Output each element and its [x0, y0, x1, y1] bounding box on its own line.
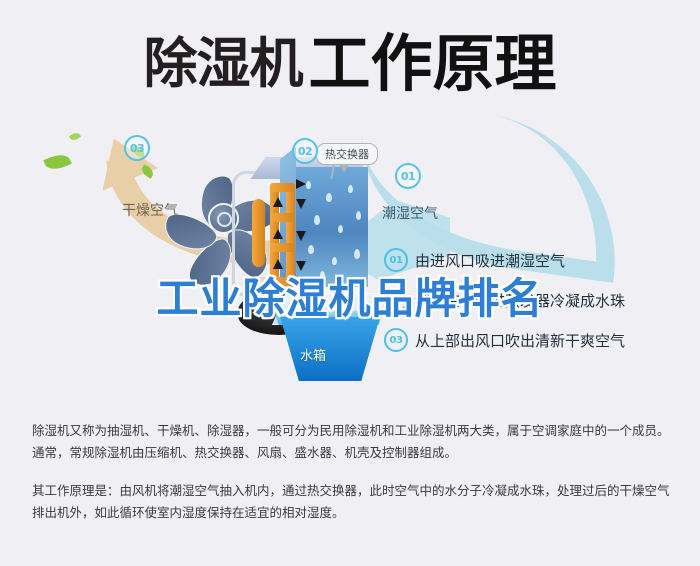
leaf-icon	[69, 131, 81, 142]
page-title-part1: 除湿机	[143, 37, 302, 91]
step-badge: 02	[384, 288, 408, 312]
step-badge: 01	[384, 248, 408, 272]
diagram-badge-03: 03	[124, 135, 150, 161]
body-paragraph-1: 除湿机又称为抽湿机、干燥机、除湿器，一般可分为民用除湿机和工业除湿机两大类，属于…	[32, 420, 672, 464]
water-droplet	[320, 271, 325, 279]
coil-tube	[270, 213, 295, 222]
coil-tube	[270, 277, 295, 286]
flow-arrow-up	[273, 259, 283, 269]
step-text: 从上部出风口吹出清新干爽空气	[415, 330, 625, 351]
flow-arrow-down	[296, 199, 306, 209]
water-tank	[276, 317, 380, 381]
flow-arrow-up	[273, 197, 283, 207]
flow-arrow-right	[296, 179, 306, 189]
water-droplet	[356, 211, 361, 220]
coil-tube	[286, 183, 295, 287]
water-droplet	[326, 193, 332, 202]
water-droplet	[354, 249, 360, 259]
body-paragraph-2: 其工作原理是：由风机将潮湿空气抽入机内，通过热交换器，此时空气中的水分子冷凝成水…	[32, 480, 672, 524]
infographic-page: 除湿机 工作原理	[0, 0, 700, 566]
step-item-03: 03 从上部出风口吹出清新干爽空气	[384, 328, 694, 352]
step-item-02: 02 潮湿空气经过蒸发器冷凝成水珠	[384, 288, 694, 312]
water-tank-label: 水箱	[300, 345, 326, 364]
water-droplet	[348, 185, 353, 193]
coil-tube	[270, 243, 295, 252]
body-copy: 除湿机又称为抽湿机、干燥机、除湿器，一般可分为民用除湿机和工业除湿机两大类，属于…	[32, 420, 672, 540]
water-droplet	[332, 257, 337, 265]
step-item-01: 01 由进风口吸进潮湿空气	[384, 248, 694, 272]
step-badge: 03	[384, 328, 408, 352]
water-droplet	[314, 215, 320, 225]
page-title: 除湿机 工作原理	[0, 28, 700, 100]
coil-tube	[270, 183, 295, 192]
dry-air-label: 干燥空气	[122, 200, 178, 220]
flow-arrow-down	[296, 261, 306, 271]
condenser-coil	[248, 177, 310, 289]
water-droplet	[338, 225, 343, 233]
flow-arrow-down	[296, 231, 306, 241]
page-title-part2: 工作原理	[308, 33, 556, 95]
flow-arrow-up	[273, 229, 283, 239]
step-text: 由进风口吸进潮湿空气	[415, 250, 565, 271]
heat-exchanger-callout: 热交换器	[316, 143, 378, 165]
diagram-badge-02: 02	[292, 138, 318, 164]
coil-tube	[252, 199, 265, 267]
diagram-badge-01: 01	[395, 163, 421, 189]
step-text: 潮湿空气经过蒸发器冷凝成水珠	[415, 290, 625, 311]
humid-air-label: 潮湿空气	[382, 203, 438, 223]
step-list: 01 由进风口吸进潮湿空气 02 潮湿空气经过蒸发器冷凝成水珠 03 从上部出风…	[384, 248, 694, 368]
leaf-icon	[43, 151, 71, 173]
